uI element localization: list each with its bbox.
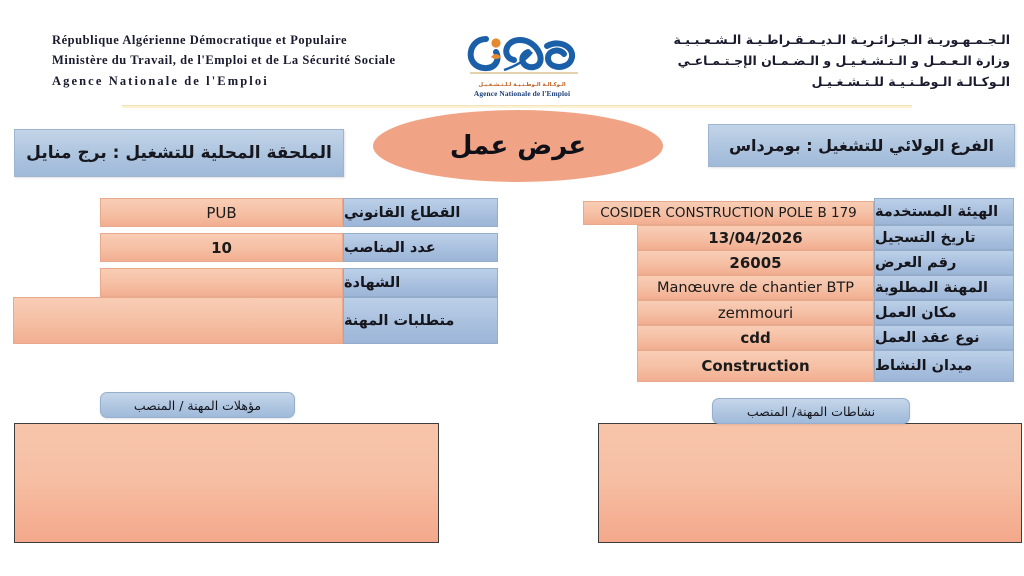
qualifications-label-pill: مؤهلات المهنة / المنصب xyxy=(100,392,295,418)
anem-logo-french-caption: Agence Nationale de l'Emploi xyxy=(452,89,592,98)
right-label-6: ميدان النشاط xyxy=(874,350,1014,382)
anem-swirl-logo-icon xyxy=(452,26,592,78)
header-french-block: République Algérienne Démocratique et Po… xyxy=(52,30,452,91)
right-value-2: 26005 xyxy=(637,250,874,275)
right-value-4: zemmouri xyxy=(637,300,874,325)
right-label-4: مكان العمل xyxy=(874,300,1014,325)
local-office-banner: الملحقة المحلية للتشغيل : برج منايل xyxy=(14,129,344,177)
header-french-line-2: Ministère du Travail, de l'Emploi et de … xyxy=(52,50,452,70)
header-french-line-3: Agence Nationale de l'Emploi xyxy=(52,71,452,91)
qualifications-content-box[interactable] xyxy=(14,423,439,543)
right-label-2: رقم العرض xyxy=(874,250,1014,275)
left-label-3: متطلبات المهنة xyxy=(343,297,498,344)
anem-logo: الـوكـالـة الـوطـنـيـة لـلـتـشـغـيـل Age… xyxy=(452,26,592,104)
header-arabic-line-1: الـجـمـهـوريـة الـجـزائـريـة الـديـمـقـر… xyxy=(590,30,1010,51)
left-value-2 xyxy=(100,268,343,297)
header-divider xyxy=(122,105,912,108)
right-value-3: Manœuvre de chantier BTP xyxy=(637,275,874,300)
left-value-3 xyxy=(13,297,343,344)
right-label-3: المهنة المطلوبة xyxy=(874,275,1014,300)
left-value-1: 10 xyxy=(100,233,343,262)
activities-label-pill: نشاطات المهنة/ المنصب xyxy=(712,398,910,424)
wilaya-office-banner: الفرع الولائي للتشغيل : بومرداس xyxy=(708,124,1015,167)
left-label-2: الشهادة xyxy=(343,268,498,297)
job-offer-document: République Algérienne Démocratique et Po… xyxy=(0,0,1024,576)
header-arabic-block: الـجـمـهـوريـة الـجـزائـريـة الـديـمـقـر… xyxy=(590,30,1010,92)
left-label-1: عدد المناصب xyxy=(343,233,498,262)
right-value-1: 13/04/2026 xyxy=(637,225,874,250)
left-value-0: PUB xyxy=(100,198,343,227)
left-label-0: القطاع القانوني xyxy=(343,198,498,227)
right-label-0: الهيئة المستخدمة xyxy=(874,198,1014,225)
header-arabic-line-2: وزارة الـعـمـل و الـتـشـغـيـل و الـضـمـا… xyxy=(590,51,1010,72)
header-french-line-1: République Algérienne Démocratique et Po… xyxy=(52,30,452,50)
right-value-6: Construction xyxy=(637,350,874,382)
right-label-5: نوع عقد العمل xyxy=(874,325,1014,350)
activities-content-box[interactable] xyxy=(598,423,1022,543)
header-arabic-line-3: الـوكـالـة الـوطـنـيـة للـتـشـغـيـل xyxy=(590,72,1010,93)
right-value-0: COSIDER CONSTRUCTION POLE B 179 xyxy=(583,201,874,225)
anem-logo-arabic-caption: الـوكـالـة الـوطـنـيـة لـلـتـشـغـيـل xyxy=(452,82,592,88)
right-label-1: تاريخ التسجيل xyxy=(874,225,1014,250)
right-value-5: cdd xyxy=(637,325,874,350)
document-title-oval: عرض عمل xyxy=(373,110,663,182)
